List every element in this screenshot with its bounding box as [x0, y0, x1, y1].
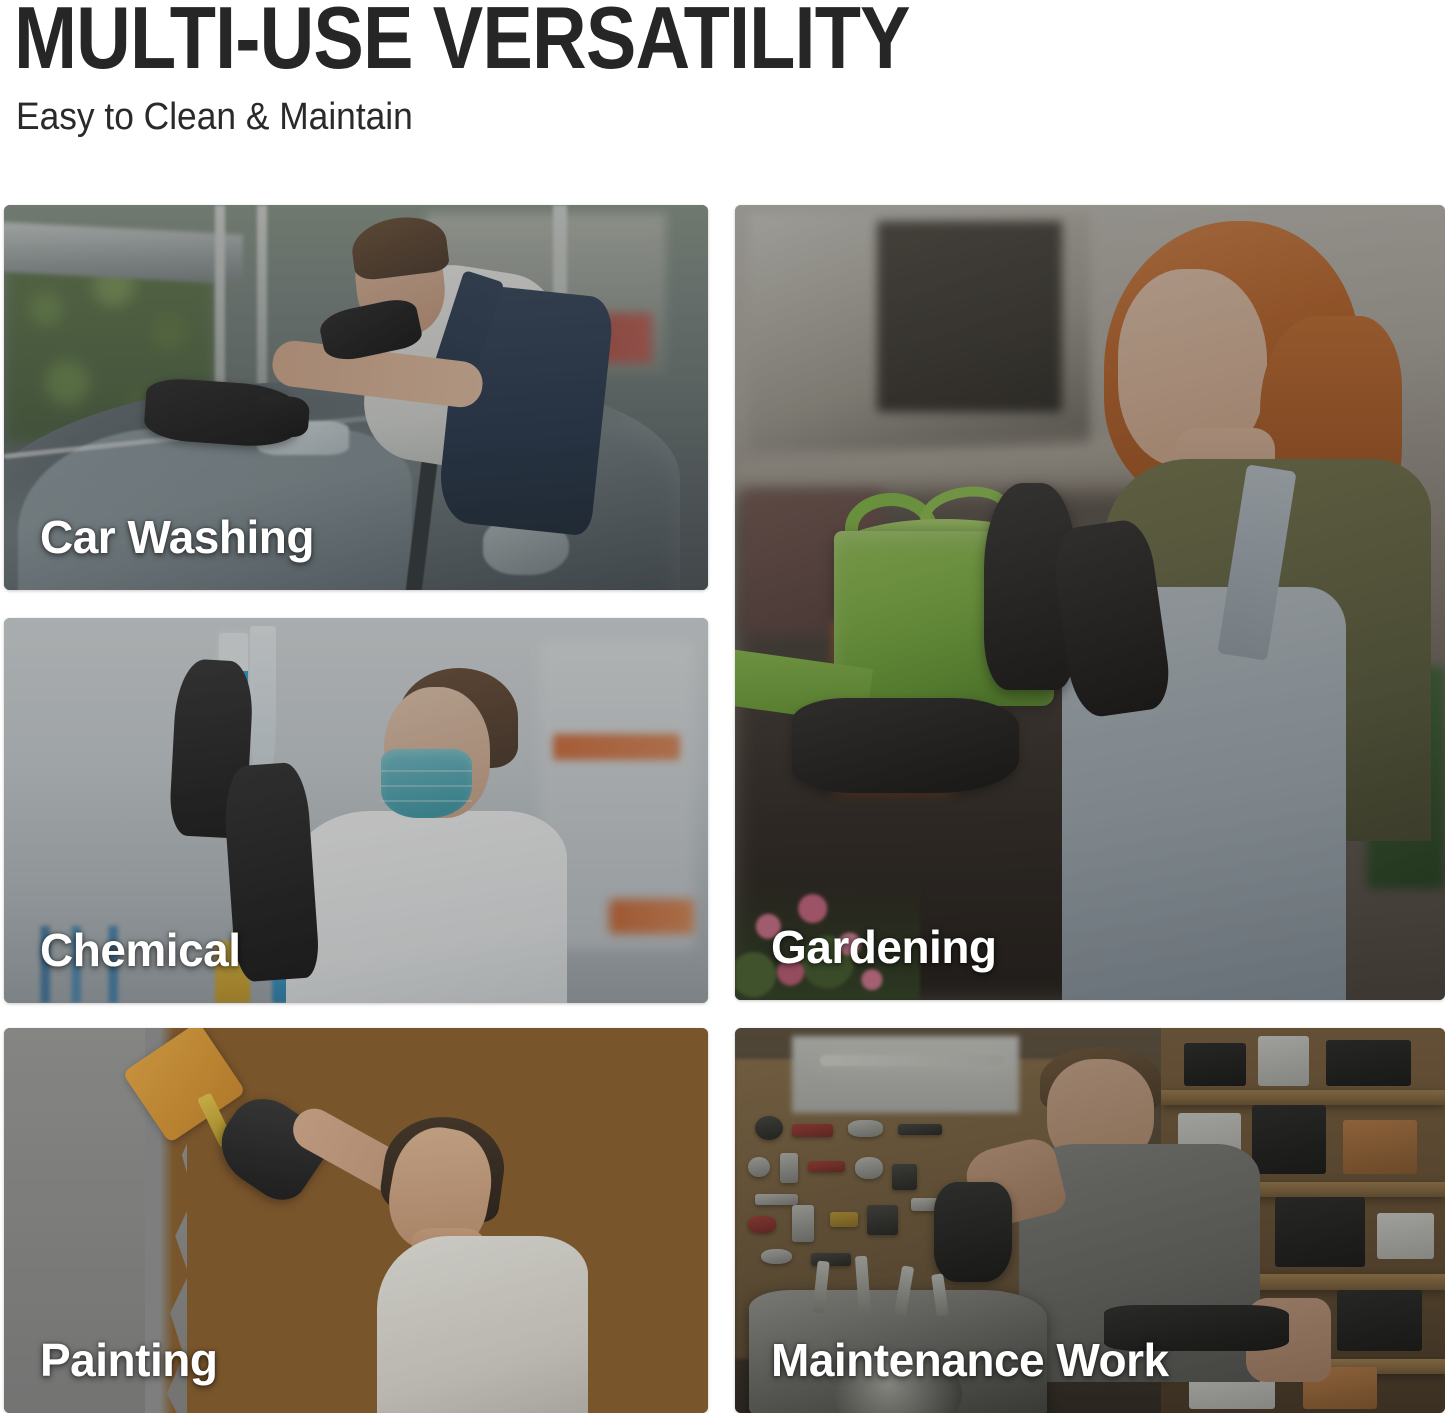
- header: MULTI-USE VERSATILITY Easy to Clean & Ma…: [0, 0, 1445, 195]
- panel-chemical[interactable]: Chemical: [4, 618, 708, 1003]
- panel-car-washing[interactable]: Car Washing: [4, 205, 708, 590]
- panel-maintenance-work[interactable]: Maintenance Work: [735, 1028, 1445, 1413]
- panel-label-maintenance-work: Maintenance Work: [771, 1333, 1169, 1387]
- panel-label-car-washing: Car Washing: [40, 510, 314, 564]
- feature-panel-grid: Car Washing Chemical: [0, 205, 1445, 1413]
- panel-label-chemical: Chemical: [40, 923, 241, 977]
- gardening-scene-image: [735, 205, 1445, 1000]
- page-subtitle: Easy to Clean & Maintain: [16, 96, 413, 139]
- panel-painting[interactable]: Painting: [4, 1028, 708, 1413]
- panel-gardening[interactable]: Gardening: [735, 205, 1445, 1000]
- page-title: MULTI-USE VERSATILITY: [14, 0, 910, 84]
- panel-label-painting: Painting: [40, 1333, 217, 1387]
- panel-label-gardening: Gardening: [771, 920, 997, 974]
